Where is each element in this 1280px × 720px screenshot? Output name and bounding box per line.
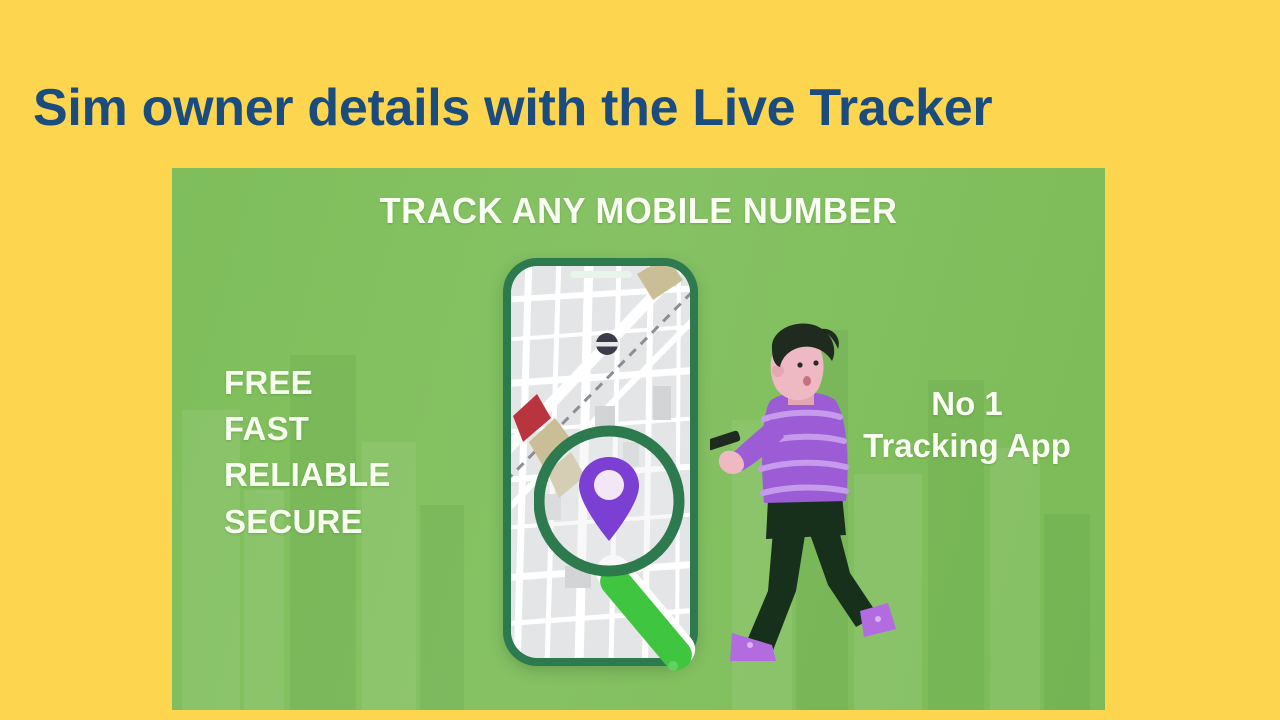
shoe-left [730, 633, 776, 661]
banner-headline: TRACK ANY MOBILE NUMBER [191, 190, 1087, 232]
shoe-right [860, 603, 896, 637]
phone-screen [511, 266, 690, 658]
walking-person-with-phone-icon [710, 323, 910, 668]
feature-list: FREE FAST RELIABLE SECURE [224, 360, 391, 545]
feature-item-fast: FAST [224, 406, 391, 452]
promo-line-1: No 1 [832, 383, 1102, 425]
feature-item-secure: SECURE [224, 499, 391, 545]
slide-page: Sim owner details with the Live Tracker … [0, 0, 1280, 720]
feature-item-free: FREE [224, 360, 391, 406]
promo-line-2: Tracking App [832, 425, 1102, 467]
handheld-phone-icon [710, 430, 741, 451]
feature-item-reliable: RELIABLE [224, 452, 391, 498]
map-graphic [511, 266, 690, 658]
smartphone-mockup [503, 258, 698, 666]
promo-text: No 1 Tracking App [832, 383, 1102, 467]
page-title: Sim owner details with the Live Tracker [33, 79, 1248, 137]
promo-banner-image: TRACK ANY MOBILE NUMBER FREE FAST RELIAB… [172, 168, 1105, 710]
phone-speaker-notch [570, 271, 632, 278]
